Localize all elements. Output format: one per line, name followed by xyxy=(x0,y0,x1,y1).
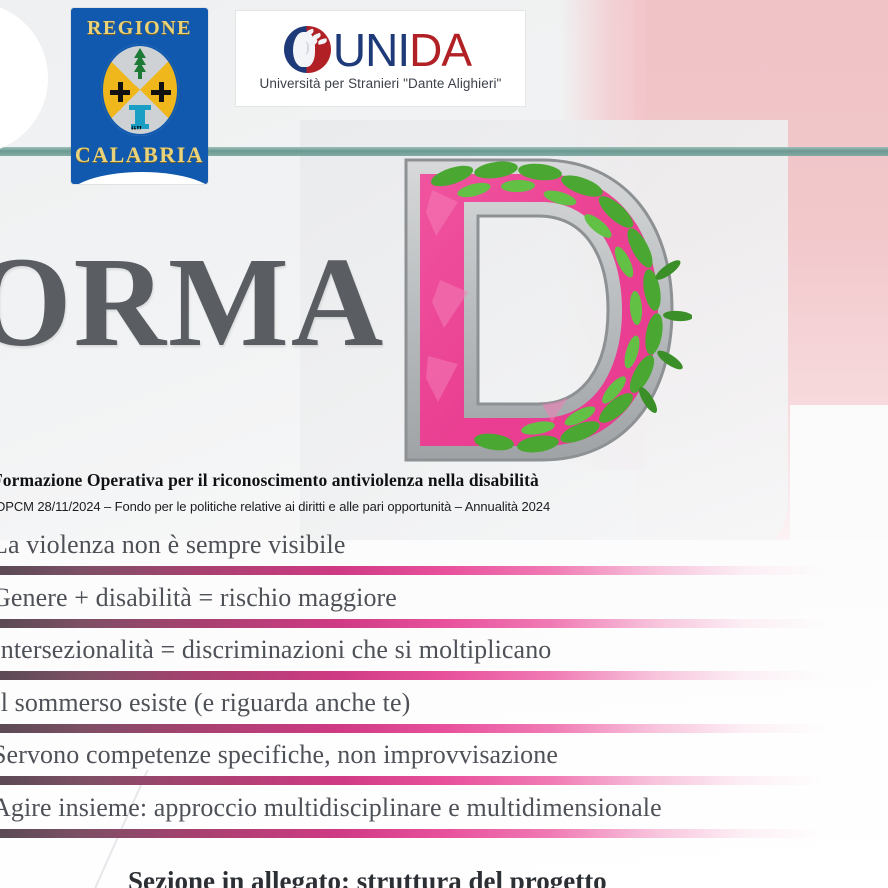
point-separator xyxy=(0,776,888,785)
point-separator xyxy=(0,724,888,733)
calabria-top-word: REGIONE xyxy=(71,17,208,40)
key-point-text: Intersezionalità = discriminazioni che s… xyxy=(0,635,551,665)
unida-mark-uni: UNI xyxy=(333,24,409,76)
unida-logo: UNIDA Università per Stranieri "Dante Al… xyxy=(236,11,525,106)
point-separator xyxy=(0,566,888,575)
list-item: Intersezionalità = discriminazioni che s… xyxy=(0,633,888,686)
cross-right-icon xyxy=(151,82,171,102)
calabria-ribbon xyxy=(71,172,208,184)
bottom-section-heading: Sezione in allegato: struttura del proge… xyxy=(128,866,888,888)
decorative-letter-d xyxy=(392,150,692,470)
point-separator xyxy=(0,619,888,628)
list-item: Agire insieme: approccio multidisciplina… xyxy=(0,791,888,844)
key-point-text: Il sommerso esiste (e riguarda anche te) xyxy=(0,688,410,718)
key-point-text: Genere + disabilità = rischio maggiore xyxy=(0,583,397,613)
partial-circular-logo: A xyxy=(0,2,48,154)
list-item: La violenza non è sempre visibile xyxy=(0,528,888,581)
cross-left-icon xyxy=(110,82,130,102)
key-point-text: Servono competenze specifiche, non impro… xyxy=(0,740,558,770)
column-capital-icon xyxy=(129,105,151,131)
list-item: Il sommerso esiste (e riguarda anche te) xyxy=(0,686,888,739)
calabria-bottom-word: CALABRIA xyxy=(71,142,208,168)
unida-mark-da: DA xyxy=(409,24,471,76)
point-separator xyxy=(0,829,888,838)
key-point-text: Agire insieme: approccio multidisciplina… xyxy=(0,793,662,823)
presentation-slide: A REGIONE CALABRIA UNIDA Università per … xyxy=(0,0,888,888)
regione-calabria-logo: REGIONE CALABRIA xyxy=(71,8,208,184)
unida-subtitle: Università per Stranieri "Dante Alighier… xyxy=(260,76,502,91)
slide-subtitle: Formazione Operativa per il riconoscimen… xyxy=(0,470,722,491)
unida-wordmark: UNIDA xyxy=(333,27,471,73)
list-item: Servono competenze specifiche, non impro… xyxy=(0,738,888,791)
pine-tree-icon xyxy=(134,48,146,78)
point-separator xyxy=(0,671,888,680)
calabria-coat-of-arms-icon xyxy=(101,44,179,136)
funding-program-line: DPCM 28/11/2024 – Fondo per le politiche… xyxy=(0,499,756,514)
key-points-list: La violenza non è sempre visibile Genere… xyxy=(0,528,888,843)
dante-profile-emblem-icon xyxy=(284,26,331,73)
slide-headline: ORMA xyxy=(0,238,385,366)
key-point-text: La violenza non è sempre visibile xyxy=(0,530,345,560)
list-item: Genere + disabilità = rischio maggiore xyxy=(0,581,888,634)
